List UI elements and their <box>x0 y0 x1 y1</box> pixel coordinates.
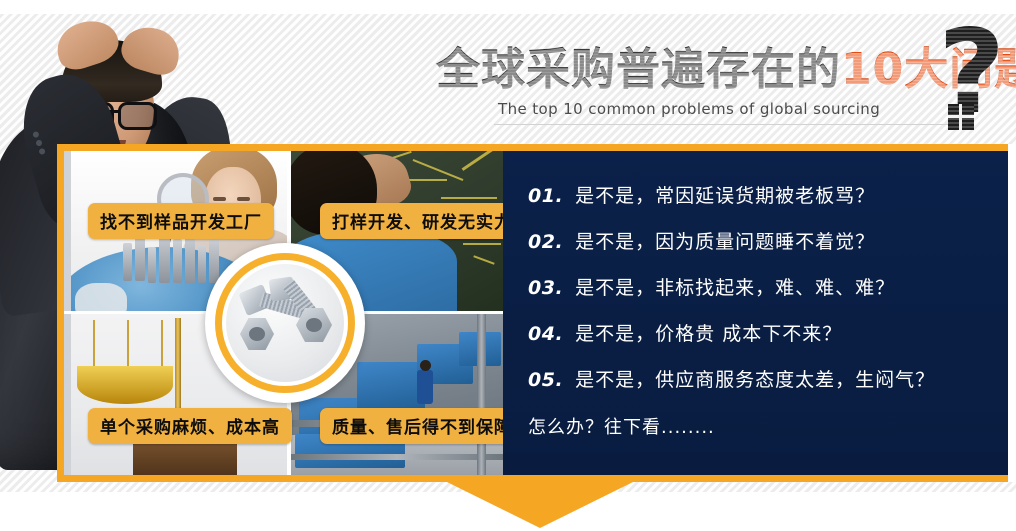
hub-photo-bolts <box>226 264 344 382</box>
list-item: 04.是不是，价格贵 成本下不来？ <box>528 319 842 346</box>
problem-list-panel: 01.是不是，常因延误货期被老板骂？ 02.是不是，因为质量问题睡不着觉？ 03… <box>503 151 1008 475</box>
list-item-text: 是不是，常因延误货期被老板骂？ <box>575 181 875 208</box>
panel-right-white-edge <box>1008 144 1016 482</box>
list-item: 01.是不是，常因延误货期被老板骂？ <box>528 181 875 208</box>
list-item-number: 03. <box>528 277 563 299</box>
list-item-number: 04. <box>528 323 563 345</box>
list-item: 03.是不是，非标找起来，难、难、难？ <box>528 273 895 300</box>
poster-root: 全球采购普遍存在的10大问题 The top 10 common problem… <box>0 0 1016 531</box>
hub-bolts <box>205 243 365 403</box>
question-mark-dot <box>948 104 974 130</box>
list-item: 02.是不是，因为质量问题睡不着觉？ <box>528 227 875 254</box>
label-single-purchase: 单个采购麻烦、成本高 <box>88 408 292 444</box>
list-item-text: 是不是，非标找起来，难、难、难？ <box>575 273 895 300</box>
nut-icon-1 <box>240 318 274 350</box>
page-title: 全球采购普遍存在的10大问题 The top 10 common problem… <box>436 44 1016 142</box>
label-quality-service: 质量、售后得不到保障 <box>320 408 524 444</box>
list-footer-text: 怎么办？往下看........ <box>528 413 715 439</box>
list-item-number: 05. <box>528 369 563 391</box>
title-main: 全球采购普遍存在的 <box>436 44 841 95</box>
page-subtitle: The top 10 common problems of global sou… <box>498 100 880 118</box>
label-rnd-weak: 打样开发、研发无实力 <box>320 203 524 239</box>
title-underline <box>494 124 964 125</box>
question-mark-icon: ? <box>938 18 1010 136</box>
scale-pan-left <box>77 366 173 404</box>
list-item-number: 02. <box>528 231 563 253</box>
list-item-number: 01. <box>528 185 563 207</box>
list-item-text: 是不是，价格贵 成本下不来？ <box>575 319 842 346</box>
list-item: 05.是不是，供应商服务态度太差，生闷气？ <box>528 365 935 392</box>
title-line: 全球采购普遍存在的10大问题 <box>436 44 1016 96</box>
list-item-text: 是不是，供应商服务态度太差，生闷气？ <box>575 365 935 392</box>
list-item-text: 是不是，因为质量问题睡不着觉？ <box>575 227 875 254</box>
label-sample-factory: 找不到样品开发工厂 <box>88 203 274 239</box>
